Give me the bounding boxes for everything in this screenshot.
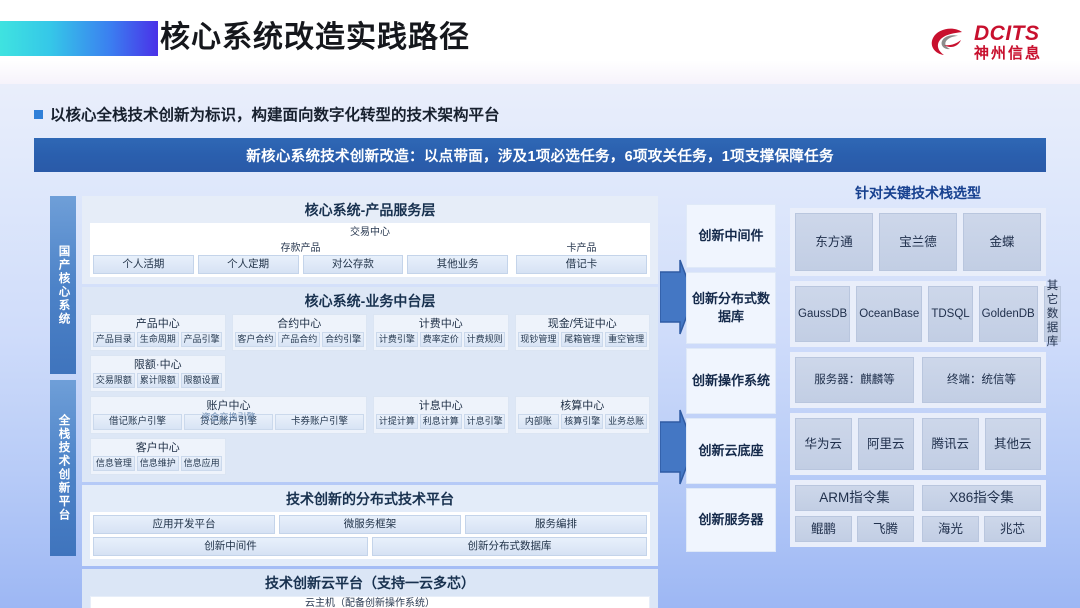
cpu-tile[interactable]: 海光 xyxy=(922,516,979,542)
highlight-banner-text: 新核心系统技术创新改造：以点带面，涉及1项必选任务，6项攻关任务，1项支撑保障任… xyxy=(246,145,834,166)
center-cell[interactable]: 计费规则 xyxy=(464,332,506,347)
vendor-tile[interactable]: 东方通 xyxy=(795,213,873,271)
center-cell[interactable]: 交易限额 xyxy=(93,373,135,388)
vertical-tab-domestic-core: 国产核心系统 xyxy=(50,196,76,374)
center-cell[interactable]: 借记账户引擎 xyxy=(93,414,182,430)
layer-cloud-platform-title: 技术创新云平台（支持一云多芯） xyxy=(90,573,650,593)
isa-header-arm[interactable]: ARM指令集 xyxy=(795,485,914,511)
isa-header-x86[interactable]: X86指令集 xyxy=(922,485,1041,511)
layer-product-service: 核心系统-产品服务层 交易中心 存款产品 个人活期 个人定期 对公存款 其他业务 xyxy=(82,196,658,284)
innovation-item-database[interactable]: 创新分布式数据库 xyxy=(686,272,776,344)
vendor-tile[interactable]: 宝兰德 xyxy=(879,213,957,271)
highlight-banner: 新核心系统技术创新改造：以点带面，涉及1项必选任务，6项攻关任务，1项支撑保障任… xyxy=(34,138,1046,172)
center-cell-credit-account[interactable]: 贷记账户引擎 资金交换引擎 xyxy=(184,414,273,430)
product-chip[interactable]: 个人活期 xyxy=(93,255,194,274)
brand-logo: DCITS 神州信息 xyxy=(928,19,1042,65)
product-chip[interactable]: 借记卡 xyxy=(516,255,647,274)
tech-group-os: 服务器：麒麟等 终端：统信等 xyxy=(790,352,1046,408)
vendor-tile[interactable]: 华为云 xyxy=(795,418,852,470)
vendor-tile[interactable]: GaussDB xyxy=(795,286,850,342)
center-cell[interactable]: 客户合约 xyxy=(235,332,277,347)
section-bullet: 以核心全栈技术创新为标识，构建面向数字化转型的技术架构平台 xyxy=(34,103,500,125)
innovation-task-column: 创新中间件 创新分布式数据库 创新操作系统 创新云底座 创新服务器 xyxy=(686,204,776,556)
tech-group-middleware: 东方通 宝兰德 金蝶 xyxy=(790,208,1046,276)
center-cell[interactable]: 卡券账户引擎 xyxy=(275,414,364,430)
dist-chip[interactable]: 微服务框架 xyxy=(279,515,461,534)
dist-chip[interactable]: 服务编排 xyxy=(465,515,647,534)
center-cell[interactable]: 内部账 xyxy=(518,414,560,429)
vendor-tile[interactable]: 服务器：麒麟等 xyxy=(795,357,914,403)
bullet-square-icon xyxy=(34,110,43,119)
tech-stack-title: 针对关键技术栈选型 xyxy=(790,182,1046,204)
page-title: 核心系统改造实践路径 xyxy=(160,18,470,58)
layer-distributed-platform-title: 技术创新的分布式技术平台 xyxy=(90,489,650,509)
vendor-tile[interactable]: TDSQL xyxy=(928,286,972,342)
vendor-tile[interactable]: 其它数据库 xyxy=(1044,286,1062,342)
tech-group-database: GaussDB OceanBase TDSQL GoldenDB 其它数据库 xyxy=(790,281,1046,347)
tech-group-instruction-set: ARM指令集 鲲鹏 飞腾 X86指令集 海光 兆芯 xyxy=(790,480,1046,547)
center-card-customer[interactable]: 客户中心 信息管理 信息维护 信息应用 xyxy=(90,438,226,475)
innovation-item-middleware[interactable]: 创新中间件 xyxy=(686,204,776,268)
product-group-deposit-label: 存款产品 xyxy=(93,242,508,255)
center-cell[interactable]: 利息计算 xyxy=(420,414,462,429)
center-cell[interactable]: 限额设置 xyxy=(181,373,223,388)
vendor-tile[interactable]: 终端：统信等 xyxy=(922,357,1041,403)
architecture-layer-stack: 核心系统-产品服务层 交易中心 存款产品 个人活期 个人定期 对公存款 其他业务 xyxy=(82,196,658,608)
layer-business-middle-title: 核心系统-业务中台层 xyxy=(90,291,650,311)
vendor-tile[interactable]: 阿里云 xyxy=(858,418,915,470)
center-name: 现金/凭证中心 xyxy=(518,317,648,332)
tech-stack-selection-panel: 针对关键技术栈选型 东方通 宝兰德 金蝶 GaussDB OceanBase T… xyxy=(790,182,1046,552)
center-cell[interactable]: 费率定价 xyxy=(420,332,462,347)
product-chip[interactable]: 对公存款 xyxy=(303,255,404,274)
center-cell[interactable]: 计费引擎 xyxy=(376,332,418,347)
transaction-center-label: 交易中心 xyxy=(93,226,647,240)
vendor-tile[interactable]: GoldenDB xyxy=(979,286,1038,342)
vendor-tile[interactable]: OceanBase xyxy=(856,286,922,342)
center-cell[interactable]: 产品目录 xyxy=(93,332,135,347)
dist-chip[interactable]: 创新中间件 xyxy=(93,537,368,556)
center-cell[interactable]: 重空管理 xyxy=(605,332,647,347)
center-cell[interactable]: 信息管理 xyxy=(93,456,135,471)
section-bullet-text: 以核心全栈技术创新为标识，构建面向数字化转型的技术架构平台 xyxy=(50,103,500,125)
layer-product-service-title: 核心系统-产品服务层 xyxy=(90,200,650,220)
product-chip[interactable]: 个人定期 xyxy=(198,255,299,274)
center-card-limit[interactable]: 限额·中心 交易限额 累计限额 限额设置 xyxy=(90,355,226,392)
logo-text-cn: 神州信息 xyxy=(974,45,1042,62)
center-cell[interactable]: 现钞管理 xyxy=(518,332,560,347)
vendor-tile[interactable]: 其他云 xyxy=(985,418,1042,470)
center-card-account[interactable]: 账户中心 借记账户引擎 贷记账户引擎 资金交换引擎 卡券账户引擎 xyxy=(90,396,367,434)
center-name: 计息中心 xyxy=(376,399,506,414)
isa-arm-group: ARM指令集 鲲鹏 飞腾 xyxy=(795,485,914,542)
layer-business-middle: 核心系统-业务中台层 产品中心 产品目录 生命周期 产品引擎 合约中心 客户合约… xyxy=(82,287,658,482)
header-accent-bar xyxy=(0,21,158,56)
center-cell-ghost-label: 资金交换引擎 xyxy=(185,412,272,423)
dist-chip[interactable]: 创新分布式数据库 xyxy=(372,537,647,556)
isa-x86-group: X86指令集 海光 兆芯 xyxy=(922,485,1041,542)
innovation-item-os[interactable]: 创新操作系统 xyxy=(686,348,776,414)
center-cell[interactable]: 产品引擎 xyxy=(181,332,223,347)
center-cell[interactable]: 业务总账 xyxy=(605,414,647,429)
product-group-card-label: 卡产品 xyxy=(516,242,647,255)
dcits-swirl-icon xyxy=(928,22,968,62)
center-card-cash-voucher[interactable]: 现金/凭证中心 现钞管理 尾箱管理 重空管理 xyxy=(515,314,651,351)
center-cell[interactable]: 计息引擎 xyxy=(464,414,506,429)
center-card-billing[interactable]: 计费中心 计费引擎 费率定价 计费规则 xyxy=(373,314,509,351)
center-name: 计费中心 xyxy=(376,317,506,332)
cloud-host-label: 云主机（配备创新操作系统） xyxy=(90,596,650,608)
center-name: 产品中心 xyxy=(93,317,223,332)
center-cell[interactable]: 信息维护 xyxy=(137,456,179,471)
center-card-interest[interactable]: 计息中心 计提计算 利息计算 计息引擎 xyxy=(373,396,509,434)
center-cell[interactable]: 计提计算 xyxy=(376,414,418,429)
center-cell[interactable]: 合约引擎 xyxy=(322,332,364,347)
logo-text-en: DCITS xyxy=(974,23,1040,45)
center-card-product[interactable]: 产品中心 产品目录 生命周期 产品引擎 xyxy=(90,314,226,351)
cpu-tile[interactable]: 飞腾 xyxy=(857,516,914,542)
product-group-card: 卡产品 借记卡 xyxy=(516,242,647,274)
cpu-tile[interactable]: 鲲鹏 xyxy=(795,516,852,542)
center-card-accounting[interactable]: 核算中心 内部账 核算引擎 业务总账 xyxy=(515,396,651,434)
cpu-tile[interactable]: 兆芯 xyxy=(984,516,1041,542)
center-name: 合约中心 xyxy=(235,317,365,332)
vertical-tab-fullstack-platform: 全栈技术创新平台 xyxy=(50,380,76,556)
dist-chip[interactable]: 应用开发平台 xyxy=(93,515,275,534)
center-cell[interactable]: 产品合约 xyxy=(278,332,320,347)
page-header: 核心系统改造实践路径 DCITS 神州信息 xyxy=(0,0,1080,84)
center-cell[interactable]: 核算引擎 xyxy=(561,414,603,429)
center-cell[interactable]: 累计限额 xyxy=(137,373,179,388)
center-name: 核算中心 xyxy=(518,399,648,414)
center-cell[interactable]: 信息应用 xyxy=(181,456,223,471)
product-chip[interactable]: 其他业务 xyxy=(407,255,508,274)
layer-cloud-platform: 技术创新云平台（支持一云多芯） 云主机（配备创新操作系统） 弹性计算 云存储 云… xyxy=(82,569,658,608)
innovation-item-cloud-base[interactable]: 创新云底座 xyxy=(686,418,776,484)
tech-group-cloud: 华为云 阿里云 腾讯云 其他云 xyxy=(790,413,1046,475)
layer-distributed-platform: 技术创新的分布式技术平台 应用开发平台 微服务框架 服务编排 创新中间件 创新分… xyxy=(82,485,658,566)
center-card-contract[interactable]: 合约中心 客户合约 产品合约 合约引擎 xyxy=(232,314,368,351)
center-name: 客户中心 xyxy=(93,441,223,456)
center-cell[interactable]: 生命周期 xyxy=(137,332,179,347)
center-cell[interactable]: 尾箱管理 xyxy=(561,332,603,347)
vendor-tile[interactable]: 金蝶 xyxy=(963,213,1041,271)
product-group-deposit: 存款产品 个人活期 个人定期 对公存款 其他业务 xyxy=(93,242,508,274)
business-center-grid: 产品中心 产品目录 生命周期 产品引擎 合约中心 客户合约 产品合约 合约引擎 xyxy=(90,314,650,475)
vendor-tile[interactable]: 腾讯云 xyxy=(922,418,979,470)
center-name: 限额·中心 xyxy=(93,358,223,373)
innovation-item-server[interactable]: 创新服务器 xyxy=(686,488,776,552)
architecture-left-panel: 国产核心系统 全栈技术创新平台 核心系统-产品服务层 交易中心 存款产品 个人活… xyxy=(50,196,658,556)
